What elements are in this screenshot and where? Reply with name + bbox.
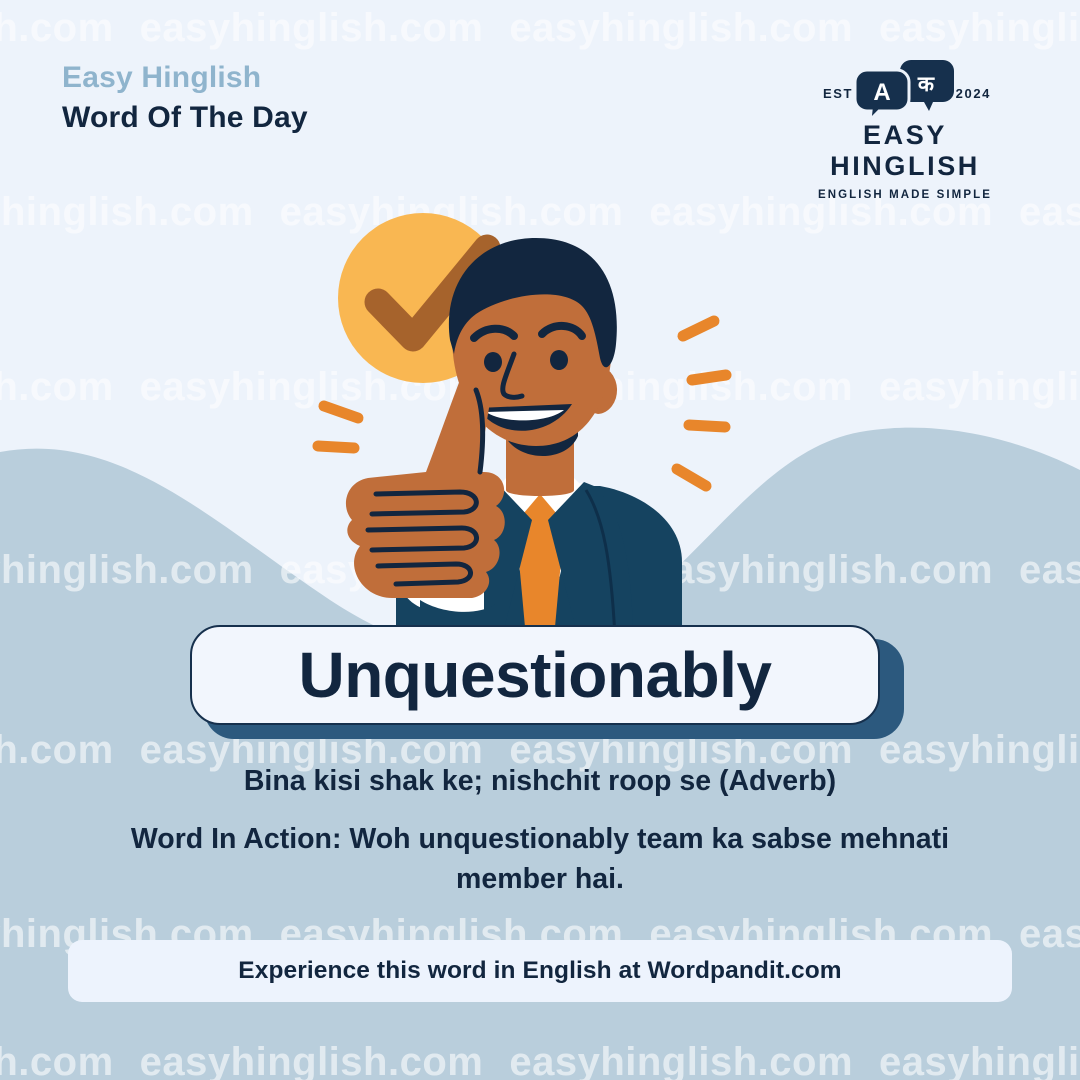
cta-text: Experience this word in English at Wordp…: [238, 957, 841, 985]
logo-name: EASY HINGLISH: [785, 120, 1025, 182]
motion-lines-right: [677, 321, 726, 486]
word-definition: Bina kisi shak ke; nishchit roop se (Adv…: [60, 762, 1020, 800]
svg-text:A: A: [873, 79, 890, 106]
logo-tagline: ENGLISH MADE SIMPLE: [785, 189, 1025, 201]
word-card-face: Unquestionably: [190, 625, 880, 725]
word-of-the-day-term: Unquestionably: [298, 643, 771, 707]
logo-mark-row: ESTD 2024 क A: [785, 58, 1025, 118]
definition-block: Bina kisi shak ke; nishchit roop se (Adv…: [60, 762, 1020, 899]
brand-block: Easy Hinglish Word Of The Day: [62, 60, 308, 136]
word-usage: Word In Action: Woh unquestionably team …: [60, 820, 1020, 899]
illustration-man-thumbs-up: [300, 190, 780, 660]
speech-bubbles-icon: क A: [853, 58, 957, 125]
header: Easy Hinglish Word Of The Day ESTD 2024 …: [0, 0, 1080, 175]
cta-bar[interactable]: Experience this word in English at Wordp…: [68, 940, 1012, 1002]
page-title: Word Of The Day: [62, 100, 308, 137]
word-of-the-day-card: easyhinglish.comeasyhinglish.comeasyhing…: [0, 0, 1080, 1080]
logo-year-label: 2024: [956, 86, 991, 101]
word-card: Unquestionably: [190, 625, 890, 735]
motion-lines-left: [318, 406, 358, 448]
thumbs-up-hand: [346, 367, 505, 615]
svg-text:क: क: [917, 73, 935, 96]
logo: ESTD 2024 क A EASY HINGLISH ENGLISH MADE…: [785, 58, 1025, 201]
brand-name: Easy Hinglish: [62, 60, 308, 97]
